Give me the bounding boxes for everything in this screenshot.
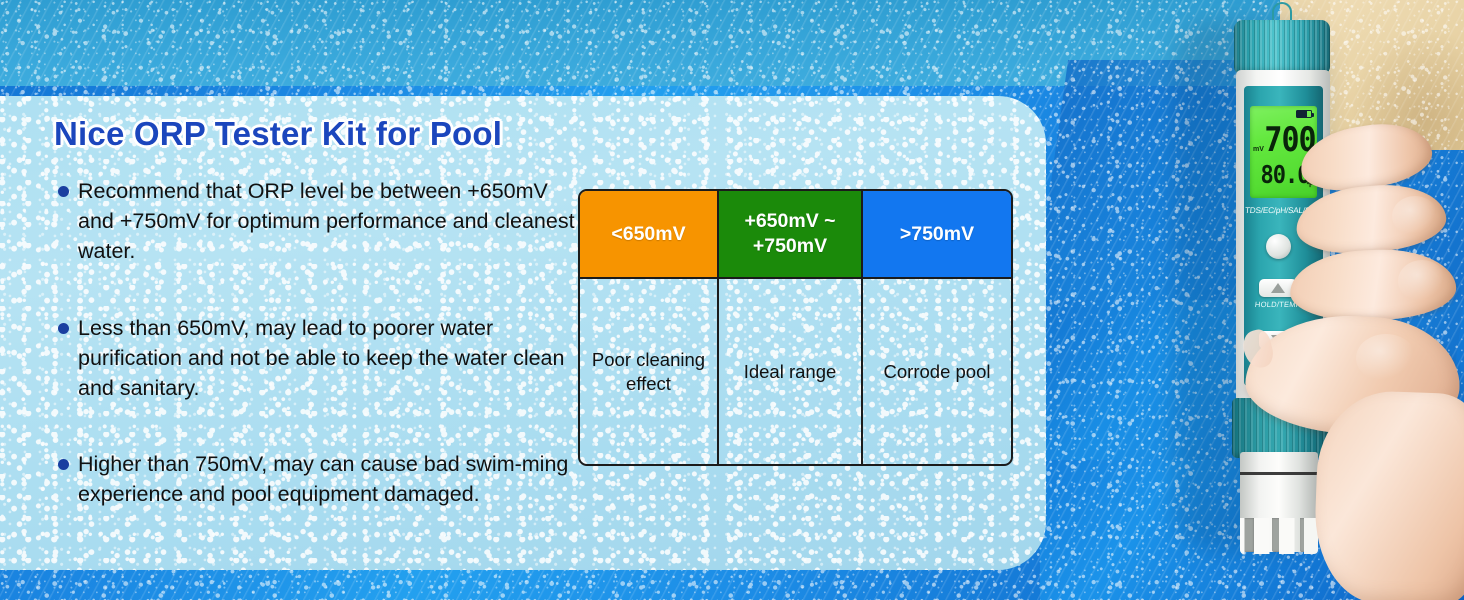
bullet-dot-icon bbox=[58, 459, 69, 470]
knuckle-highlight bbox=[1356, 334, 1416, 382]
battery-icon bbox=[1296, 110, 1312, 118]
knuckle-highlight bbox=[1392, 196, 1438, 236]
probe-marker-line bbox=[1240, 472, 1318, 475]
device-cap bbox=[1234, 20, 1330, 74]
table-header-row: <650mV +650mV ~+750mV >750mV bbox=[580, 191, 1011, 279]
bullet-dot-icon bbox=[58, 323, 69, 334]
table-header-cell-high: >750mV bbox=[863, 191, 1011, 279]
bullet-dot-icon bbox=[58, 186, 69, 197]
probe-guard-slots bbox=[1240, 518, 1318, 554]
knuckle-highlight bbox=[1398, 260, 1446, 302]
bullet-item-1: Recommend that ORP level be between +650… bbox=[58, 176, 578, 266]
orp-range-table: <650mV +650mV ~+750mV >750mV Poor cleani… bbox=[578, 189, 1013, 466]
bullet-text: Recommend that ORP level be between +650… bbox=[78, 176, 578, 266]
table-body-row: Poor cleaning effect Ideal range Corrode… bbox=[580, 279, 1011, 464]
table-cell-low-effect: Poor cleaning effect bbox=[580, 279, 719, 464]
bullet-text: Higher than 750mV, may can cause bad swi… bbox=[78, 449, 618, 509]
table-cell-ideal-effect: Ideal range bbox=[719, 279, 863, 464]
palm bbox=[1312, 389, 1464, 600]
bullet-item-2: Less than 650mV, may lead to poorer wate… bbox=[58, 313, 578, 403]
table-header-cell-low: <650mV bbox=[580, 191, 719, 279]
table-cell-high-effect: Corrode pool bbox=[863, 279, 1011, 464]
up-triangle-icon bbox=[1271, 283, 1285, 293]
page-title: Nice ORP Tester Kit for Pool bbox=[54, 115, 502, 153]
bullet-text: Less than 650mV, may lead to poorer wate… bbox=[78, 313, 578, 403]
lcd-primary-unit: mV bbox=[1253, 146, 1264, 153]
power-button[interactable] bbox=[1266, 234, 1291, 259]
bullet-item-3: Higher than 750mV, may can cause bad swi… bbox=[58, 449, 618, 509]
table-header-cell-ideal: +650mV ~+750mV bbox=[719, 191, 863, 279]
